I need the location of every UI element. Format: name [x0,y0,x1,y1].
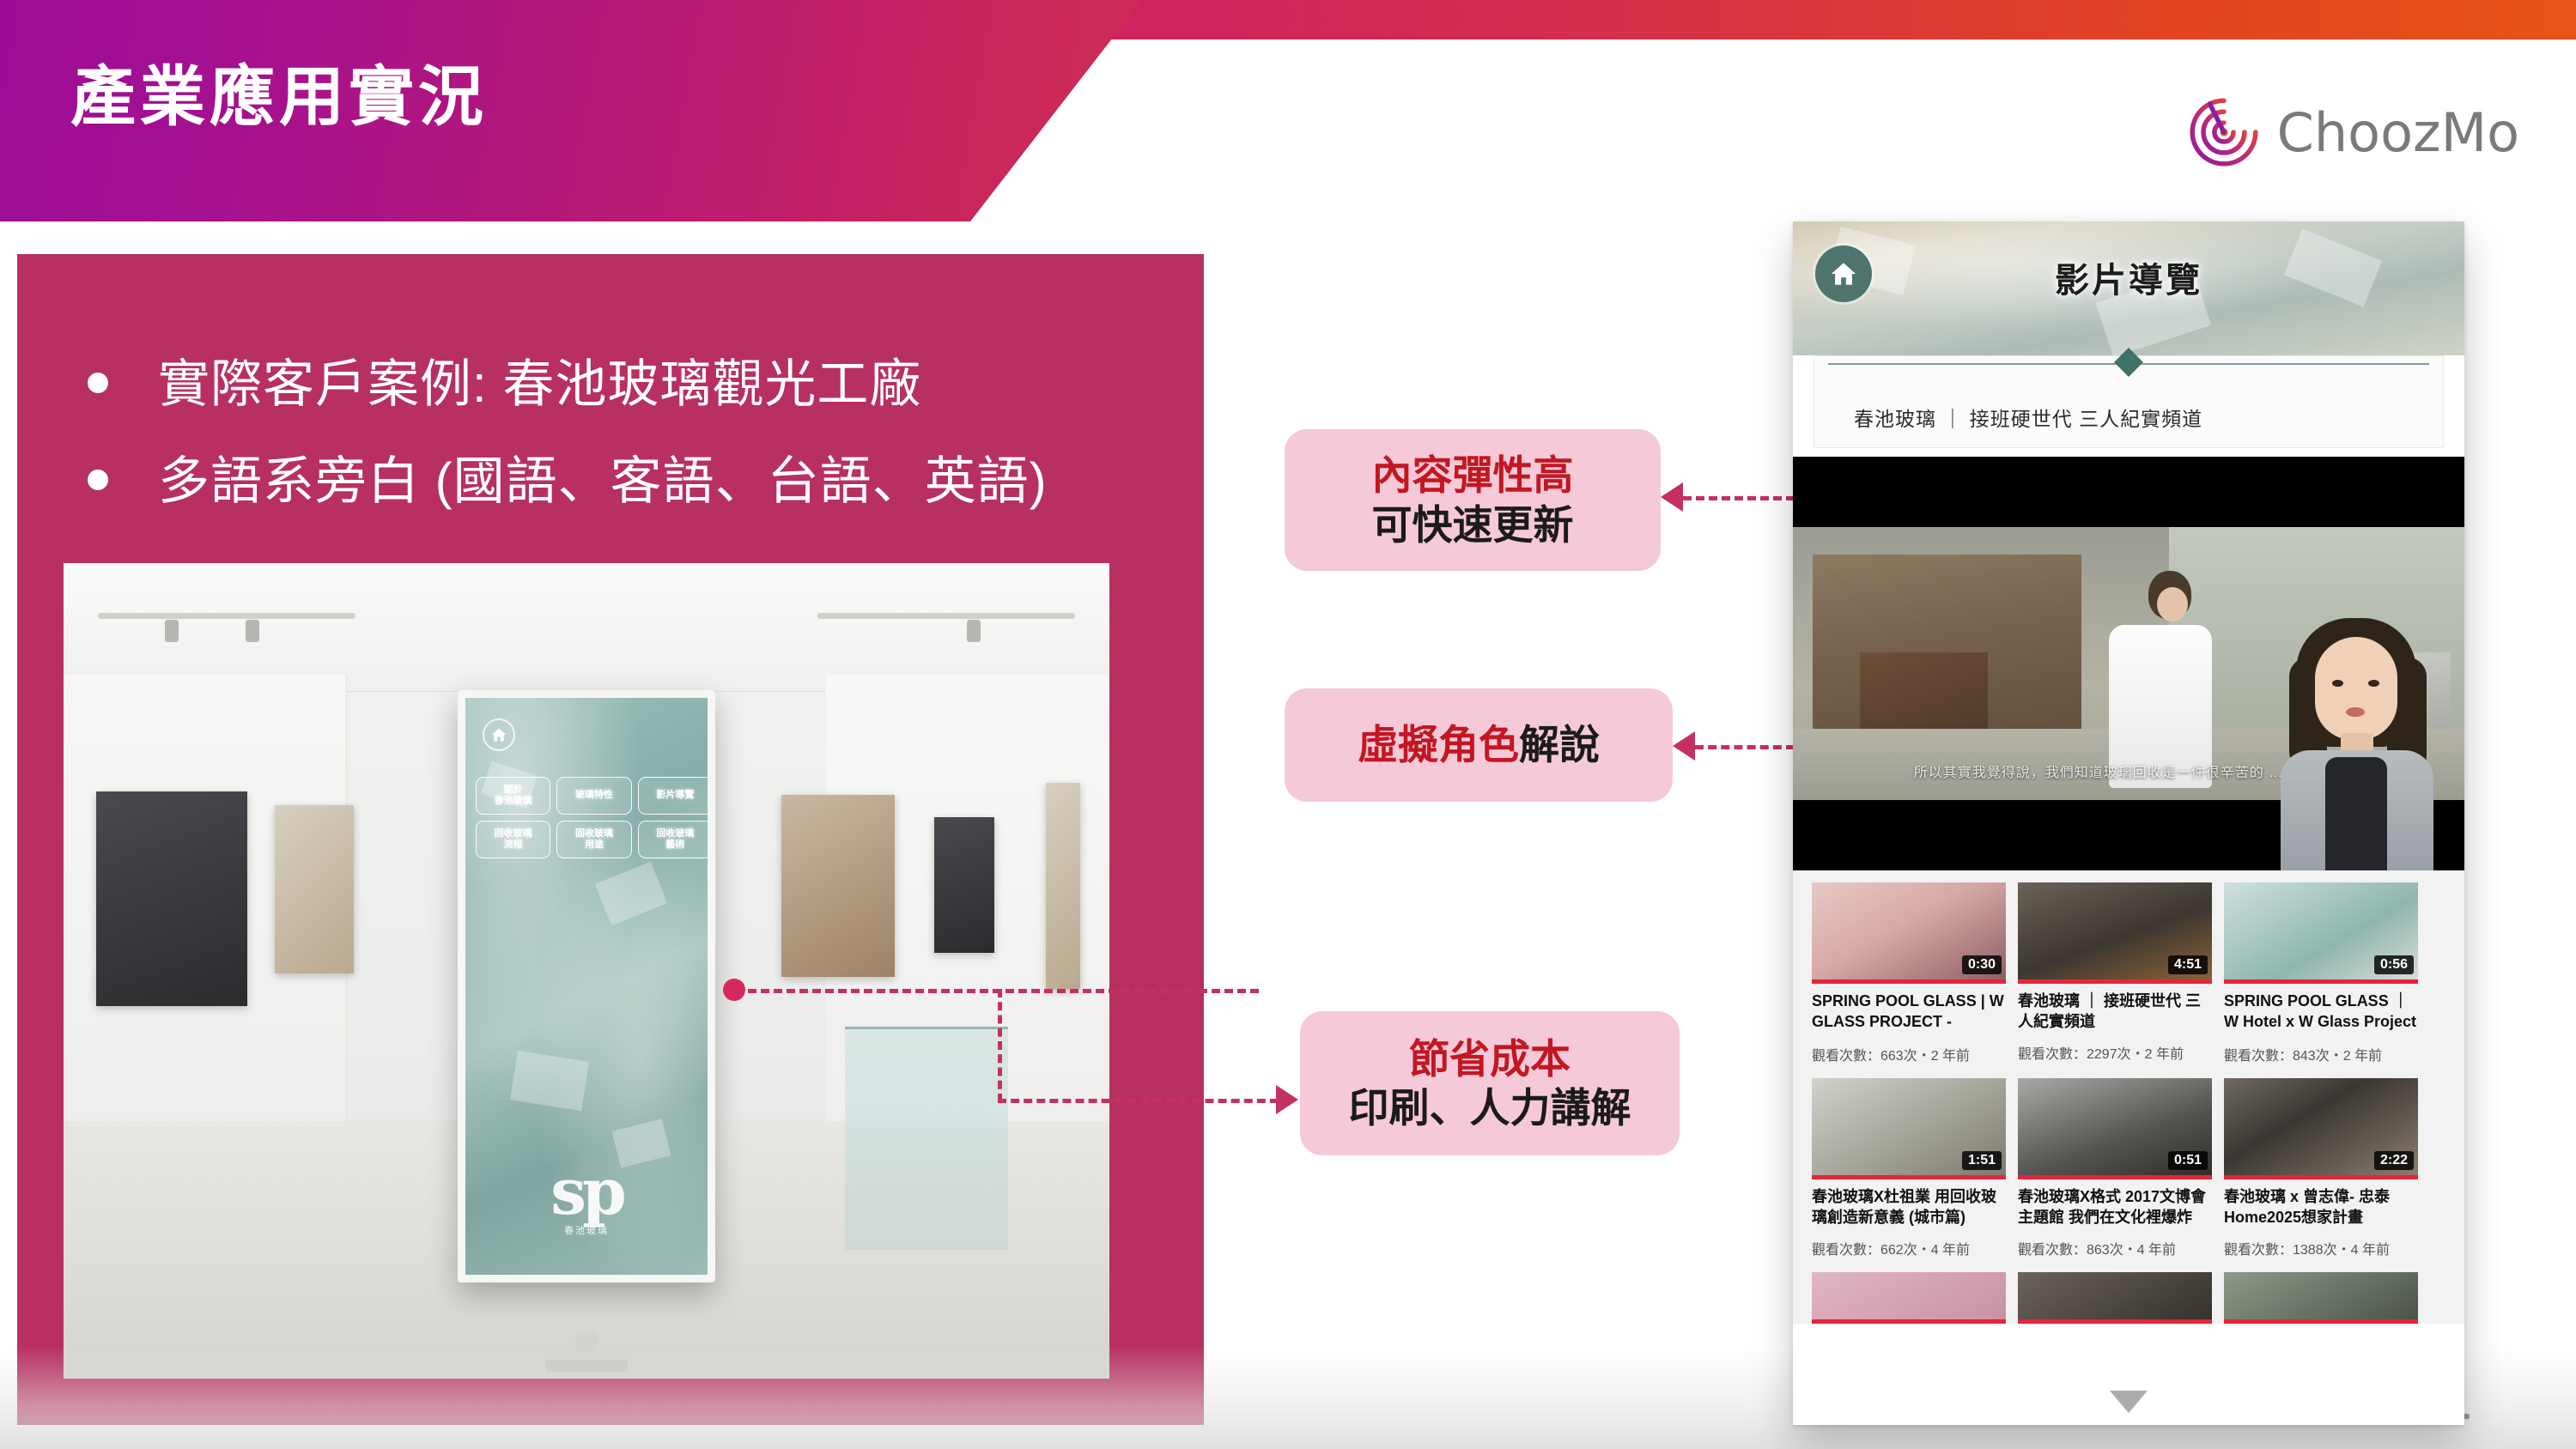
list-item[interactable] [2224,1272,2418,1324]
connector-dash [998,1099,1291,1103]
home-glyph [490,726,507,743]
video-views: 觀看次數：662次・4 年前 [1812,1238,2006,1258]
bullet-dot-icon [88,373,108,393]
phone-mockup: 影片導覽 春池玻璃 ｜ 接班硬世代 三人紀實頻道 所以其實我覺得說，我們知 [1793,221,2464,1425]
glass-railing [845,1027,1008,1250]
video-duration: 0:51 [2168,1151,2208,1170]
video-title[interactable]: SPRING POOL GLASS ｜ W Hotel x W Glass Pr… [2224,991,2418,1034]
kiosk-menu-item-about[interactable]: 關於春池玻璃 [476,777,550,815]
bullet-dot-icon [88,470,108,490]
page-title: 產業應用實況 [70,65,488,130]
video-views: 觀看次數：2297次・2 年前 [2018,1042,2212,1063]
app-title: 影片導覽 [1793,252,2464,302]
video-views: 觀看次數：1388次・4 年前 [2224,1238,2418,1258]
connector-dash [735,989,1259,993]
kiosk-stand-neck [575,1331,598,1361]
video-duration: 1:51 [1962,1151,2002,1170]
video-thumbnail[interactable] [2018,1272,2212,1324]
artwork-frame [934,817,994,953]
list-item[interactable]: 0:30 SPRING POOL GLASS | W GLASS PROJECT… [1812,882,2006,1064]
connector-dash [1683,496,1795,500]
connector-arrow-left-icon [1661,482,1683,512]
brand-logo: ChoozMo [2184,93,2519,172]
list-item: 多語系旁白 (國語、客語、台語、英語) [69,449,1185,515]
artwork-frame [1046,783,1080,989]
app-screen: 影片導覽 春池玻璃 ｜ 接班硬世代 三人紀實頻道 所以其實我覺得說，我們知 [1793,221,2464,1425]
home-icon[interactable] [483,718,515,751]
video-thumbnail[interactable]: 2:22 [2224,1078,2418,1179]
slide-root: 產業應用實況 ChoozMo 實際客戶案例: 春池玻璃觀光工廠 [0,0,2576,1449]
bullet-list: 實際客戶案例: 春池玻璃觀光工廠 多語系旁白 (國語、客語、台語、英語) [69,352,1185,546]
bullet-text: 實際客戶案例: 春池玻璃觀光工廠 [158,352,921,418]
video-player[interactable]: 所以其實我覺得說，我們知道玻璃回收是一件很辛苦的 … [1793,457,2464,870]
spotlight-icon [165,620,179,642]
connector-dash [1695,745,1795,749]
list-item: 實際客戶案例: 春池玻璃觀光工廠 [69,352,1185,418]
app-header: 影片導覽 [1793,221,2464,355]
video-views: 觀看次數：843次・2 年前 [2224,1044,2418,1064]
content-panel: 實際客戶案例: 春池玻璃觀光工廠 多語系旁白 (國語、客語、台語、英語) [17,254,1204,1425]
artwork-frame [781,795,895,977]
video-thumbnail[interactable] [1812,1272,2006,1324]
list-item[interactable]: 0:56 SPRING POOL GLASS ｜ W Hotel x W Gla… [2224,882,2418,1064]
connector-dash [998,989,1002,1102]
callout-line-1: 節省成本 [1409,1034,1571,1083]
kiosk-menu-item-recycle-process[interactable]: 回收玻璃流程 [476,821,550,858]
kiosk-brand-logo: sp [550,1167,622,1218]
spotlight-icon [246,620,259,642]
video-title[interactable]: SPRING POOL GLASS | W GLASS PROJECT - IN… [1812,991,2006,1034]
virtual-presenter-avatar [2275,613,2439,870]
artwork-frame [275,805,354,973]
video-title[interactable]: 春池玻璃 ｜ 接班硬世代 三人紀實頻道 [2018,991,2212,1033]
channel-name: 春池玻璃 ｜ 接班硬世代 三人紀實頻道 [1854,403,2202,432]
video-list[interactable]: 0:30 SPRING POOL GLASS | W GLASS PROJECT… [1793,870,2464,1324]
video-views: 觀看次數：663次・2 年前 [1812,1044,2006,1064]
callout-line-2: 可快速更新 [1372,500,1574,549]
video-thumbnail[interactable]: 0:30 [1812,882,2006,984]
ceiling-track [817,613,1075,619]
list-item[interactable]: 2:22 春池玻璃 x 曾志偉- 忠泰Home2025想家計畫 觀看次數：138… [2224,1078,2418,1258]
video-thumbnail[interactable]: 4:51 [2018,882,2212,984]
list-item[interactable]: 0:51 春池玻璃X格式 2017文博會主題館 我們在文化裡爆炸 觀看次數：86… [2018,1078,2212,1258]
kiosk-gallery-photo: 關於春池玻璃 玻璃特性 影片導覽 回收玻璃流程 回收玻璃用途 回收玻璃藝術 sp… [64,563,1109,1379]
gallery-ceiling [64,563,1109,692]
kiosk-brand-sub: 春池玻璃 [564,1223,609,1237]
kiosk-menu-item-recycle-art[interactable]: 回收玻璃藝術 [638,821,708,858]
kiosk-menu-item-recycle-usage[interactable]: 回收玻璃用途 [556,821,631,858]
video-title[interactable]: 春池玻璃X格式 2017文博會主題館 我們在文化裡爆炸 [2018,1187,2212,1228]
callout-line-1: 虛擬角色 [1358,720,1519,769]
list-fade-mask [1793,1351,2464,1425]
list-item[interactable] [1812,1272,2006,1324]
callout-line-2: 解說 [1519,720,1600,769]
kiosk-stand-base [545,1360,628,1372]
connector-arrow-left-icon [1673,731,1695,761]
video-duration: 0:56 [2374,955,2414,974]
list-item[interactable] [2018,1272,2212,1324]
callout-line-2: 印刷、人力講解 [1349,1083,1631,1132]
callout-content-flexible: 內容彈性高 可快速更新 [1285,429,1661,571]
video-row: 0:30 SPRING POOL GLASS | W GLASS PROJECT… [1812,882,2445,1064]
video-thumbnail[interactable] [2224,1272,2418,1324]
video-thumbnail[interactable]: 0:51 [2018,1078,2212,1179]
kiosk-menu[interactable]: 關於春池玻璃 玻璃特性 影片導覽 回收玻璃流程 回收玻璃用途 回收玻璃藝術 [476,777,708,858]
video-thumbnail[interactable]: 1:51 [1812,1078,2006,1179]
list-item[interactable]: 1:51 春池玻璃X杜祖業 用回收玻璃創造新意義 (城市篇) 觀看次數：662次… [1812,1078,2006,1258]
callout-virtual-presenter: 虛擬角色 解說 [1285,688,1673,802]
bullet-text: 多語系旁白 (國語、客語、台語、英語) [158,449,1048,515]
video-duration: 0:30 [1962,955,2002,974]
choozmo-target-logo-icon [2184,93,2263,172]
brand-name: ChoozMo [2277,101,2519,164]
video-row: 1:51 春池玻璃X杜祖業 用回收玻璃創造新意義 (城市篇) 觀看次數：662次… [1812,1078,2445,1258]
kiosk-menu-item-video-guide[interactable]: 影片導覽 [638,777,708,815]
video-subtitle: 所以其實我覺得說，我們知道玻璃回收是一件很辛苦的 … [1914,761,2283,781]
video-duration: 4:51 [2168,955,2208,974]
video-row-partial [1812,1272,2445,1324]
scroll-down-arrow-icon[interactable] [2110,1391,2148,1413]
list-item[interactable]: 4:51 春池玻璃 ｜ 接班硬世代 三人紀實頻道 觀看次數：2297次・2 年前 [2018,882,2212,1064]
video-title[interactable]: 春池玻璃X杜祖業 用回收玻璃創造新意義 (城市篇) [1812,1187,2006,1228]
kiosk-menu-item-properties[interactable]: 玻璃特性 [556,777,631,815]
callout-line-1: 內容彈性高 [1372,451,1574,500]
video-duration: 2:22 [2374,1151,2414,1170]
callout-cost-saving: 節省成本 印刷、人力講解 [1300,1011,1680,1155]
video-thumbnail[interactable]: 0:56 [2224,882,2418,984]
ceiling-track [98,613,355,619]
connector-arrow-right-icon [1276,1085,1298,1114]
spotlight-icon [967,620,981,642]
kiosk-screen[interactable]: 關於春池玻璃 玻璃特性 影片導覽 回收玻璃流程 回收玻璃用途 回收玻璃藝術 sp… [465,698,708,1275]
artwork-frame [96,791,247,1006]
kiosk-display[interactable]: 關於春池玻璃 玻璃特性 影片導覽 回收玻璃流程 回收玻璃用途 回收玻璃藝術 sp… [458,690,715,1282]
channel-bar: 春池玻璃 ｜ 接班硬世代 三人紀實頻道 [1814,355,2444,448]
video-views: 觀看次數：863次・4 年前 [2018,1238,2212,1258]
video-title[interactable]: 春池玻璃 x 曾志偉- 忠泰Home2025想家計畫 [2224,1187,2418,1228]
